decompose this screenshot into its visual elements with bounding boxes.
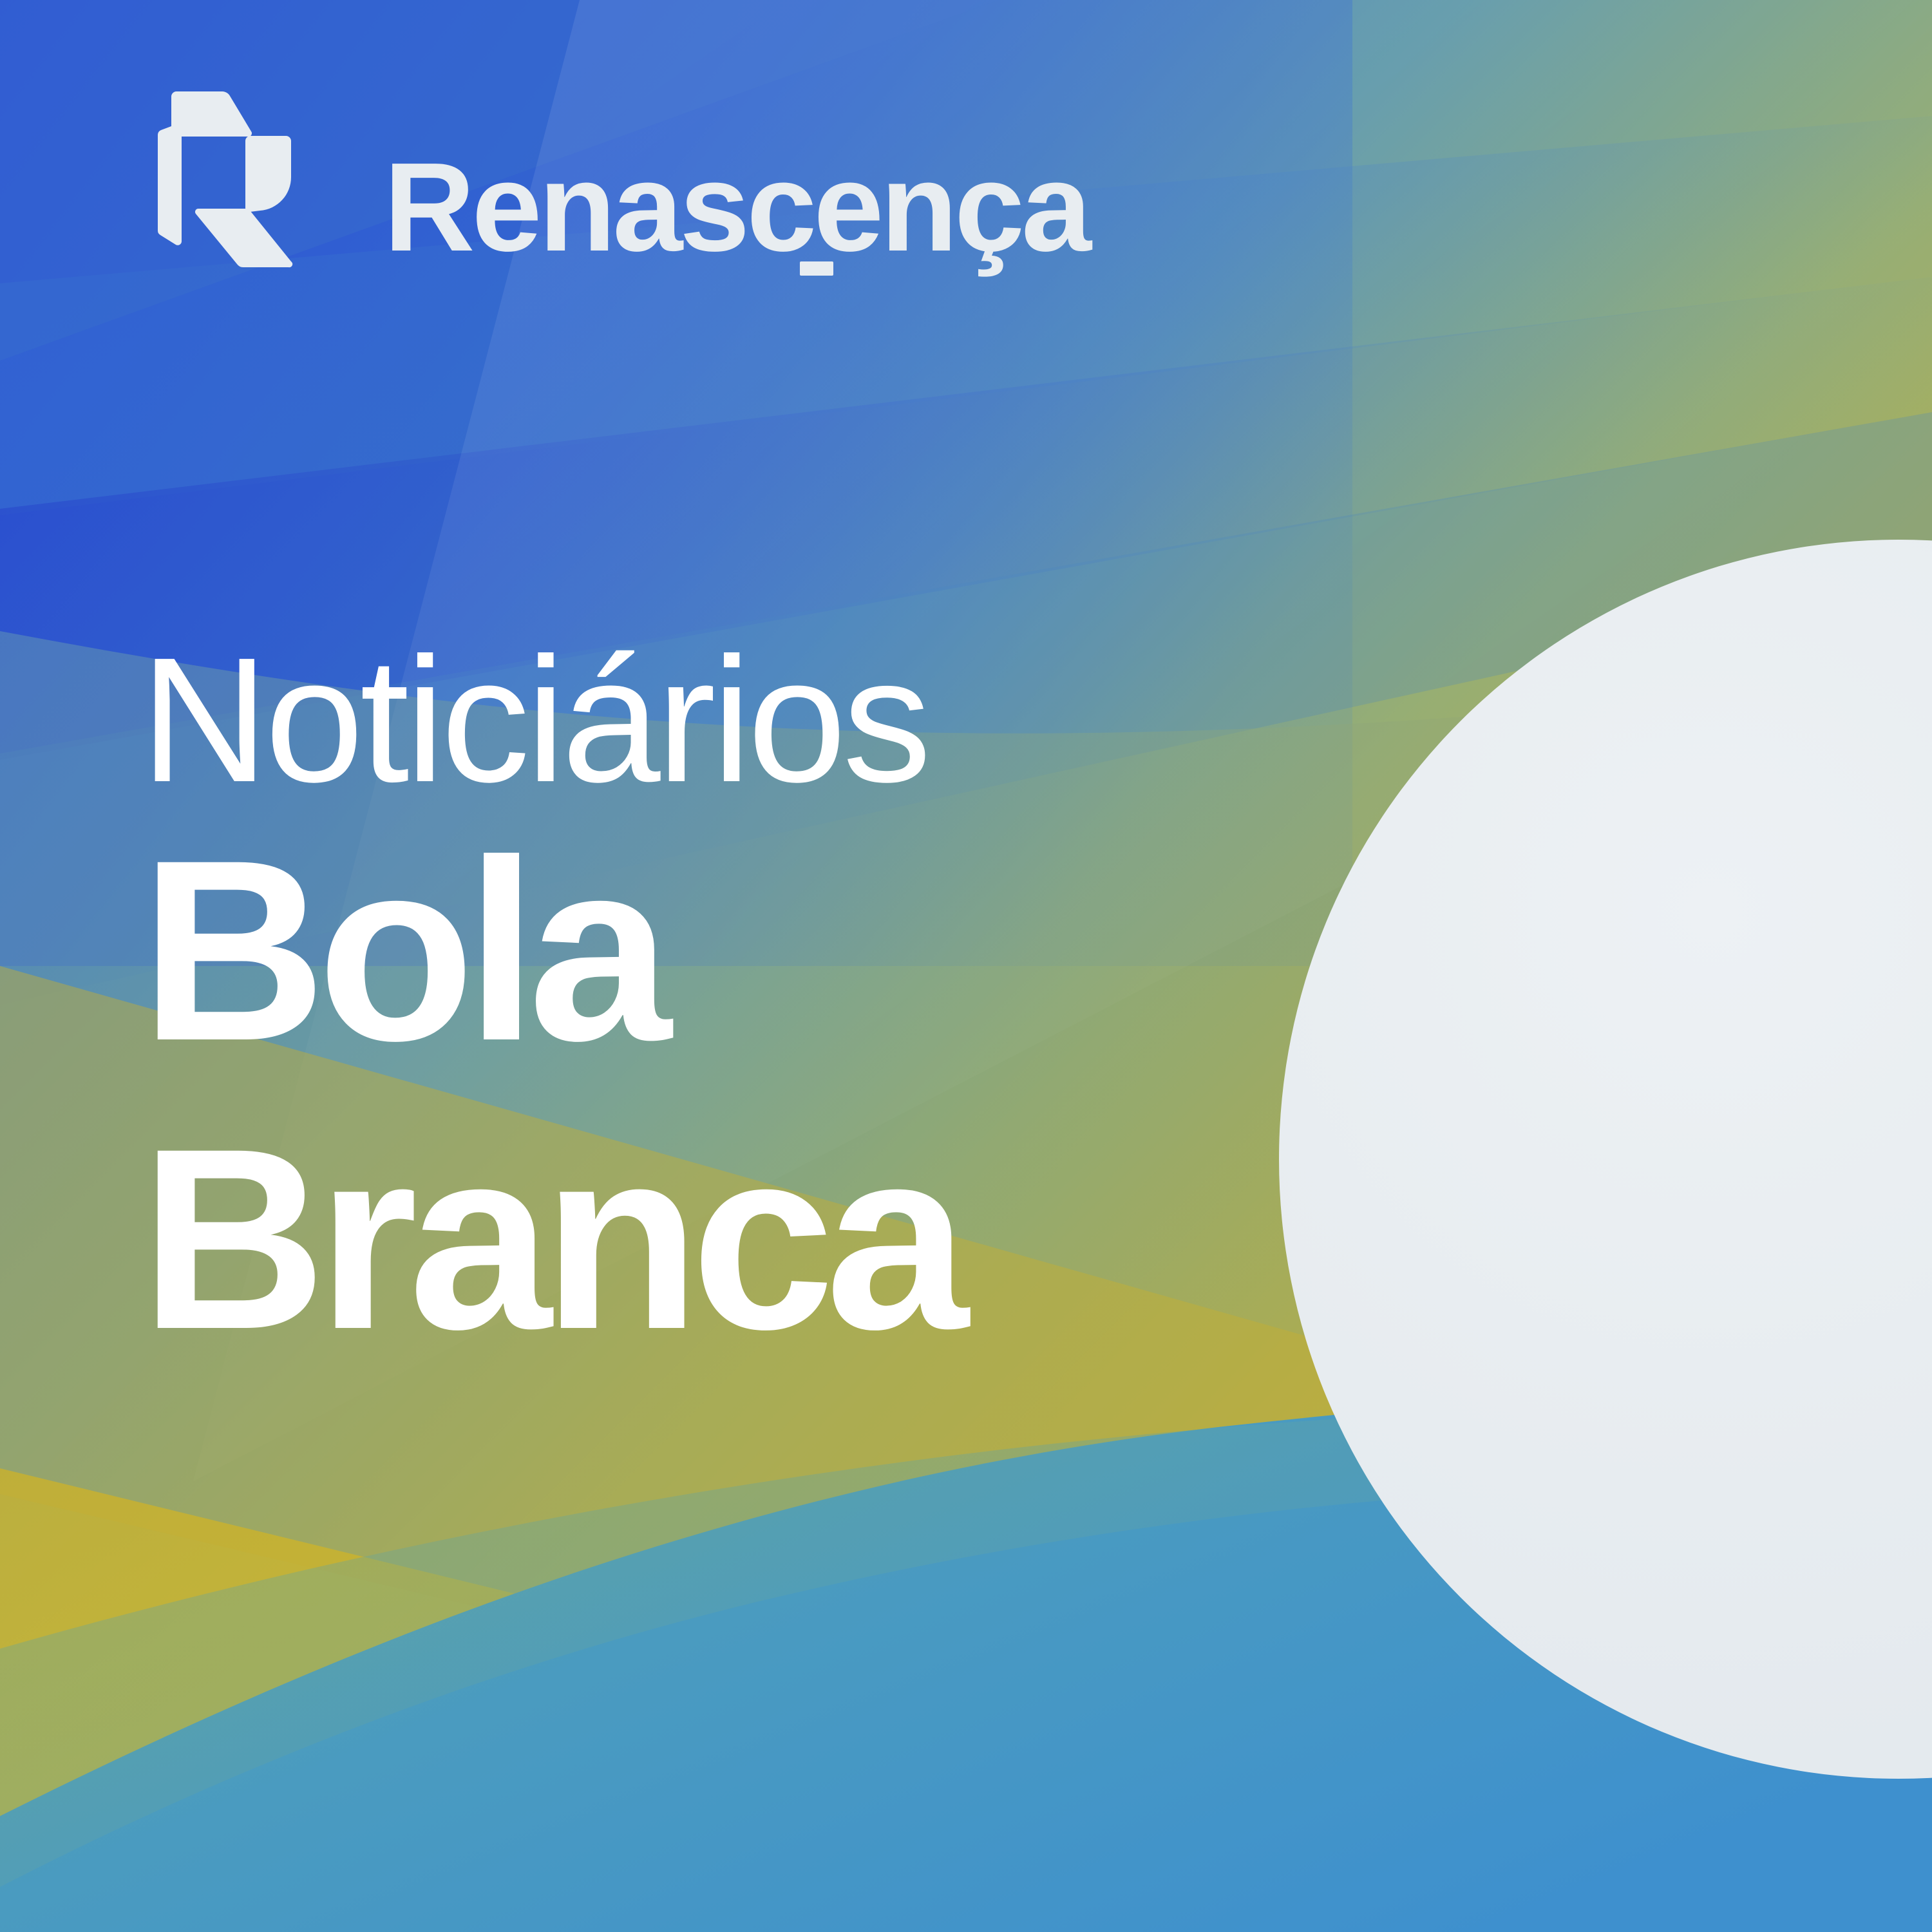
brand-wordmark: Renascença — [384, 144, 1088, 270]
title-line-bola: Bola — [140, 822, 960, 1079]
cedilla-bar-icon — [800, 261, 833, 276]
brand-wordmark-text: Renascença — [384, 137, 1088, 278]
title-line-branca: Branca — [140, 1110, 960, 1368]
title-block: Noticiários Bola Branca — [140, 631, 960, 1368]
podcast-cover-art: Renascença Noticiários Bola Branca — [0, 0, 1932, 1932]
brand-lockup: Renascença — [126, 90, 1088, 274]
title-kicker: Noticiários — [140, 631, 960, 809]
renascenca-r-monogram-icon — [126, 90, 314, 274]
